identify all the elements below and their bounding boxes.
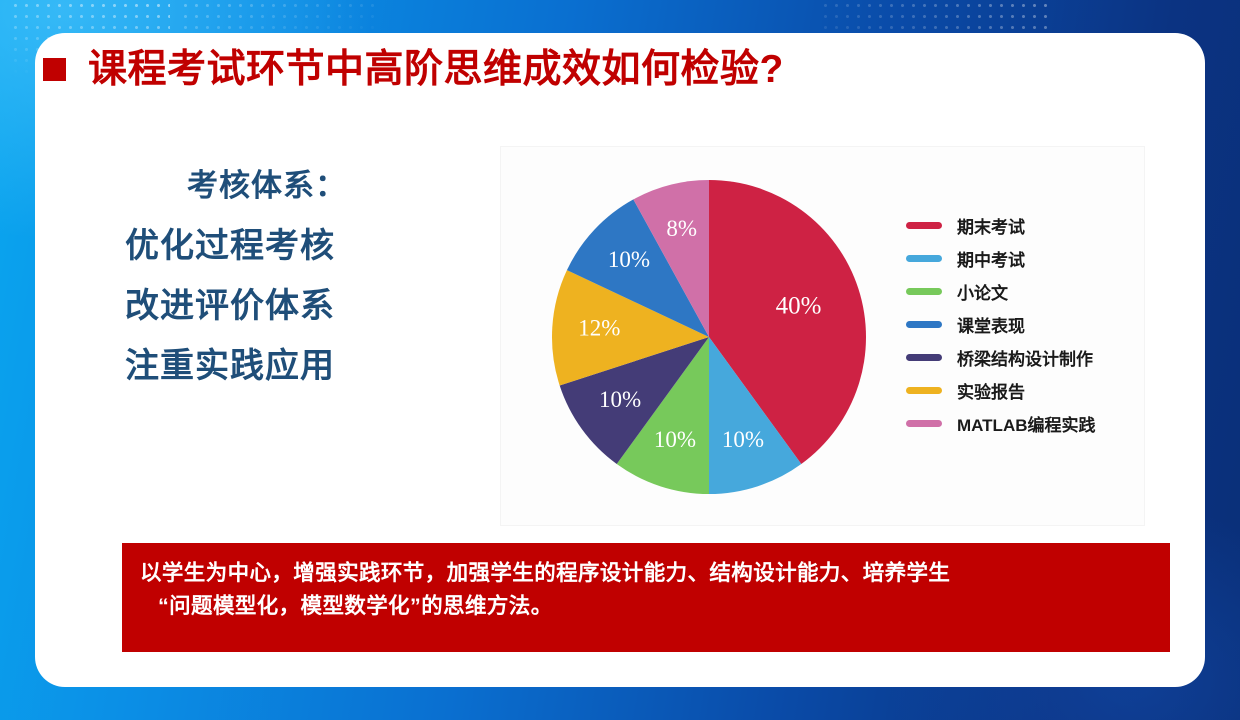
legend-item-label: MATLAB编程实践 bbox=[957, 411, 1096, 436]
pie-slice-value-label: 40% bbox=[776, 293, 822, 320]
legend-color-swatch-icon bbox=[906, 255, 942, 262]
legend-color-swatch-icon bbox=[906, 288, 942, 295]
legend-color-swatch-icon bbox=[906, 321, 942, 328]
slide-canvas: 课程考试环节中高阶思维成效如何检验? 考核体系： 优化过程考核 改进评价体系 注… bbox=[0, 0, 1240, 720]
legend-color-swatch-icon bbox=[906, 354, 942, 361]
legend-item-label: 课堂表现 bbox=[957, 312, 1025, 337]
legend-color-swatch-icon bbox=[906, 222, 942, 229]
legend-item-label: 桥梁结构设计制作 bbox=[957, 345, 1093, 370]
legend-item: 小论文 bbox=[906, 275, 1096, 308]
summary-banner: 以学生为中心，增强实践环节，加强学生的程序设计能力、结构设计能力、培养学生 “问… bbox=[122, 543, 1170, 652]
square-bullet-icon bbox=[43, 58, 66, 81]
legend-item: 期中考试 bbox=[906, 242, 1096, 275]
legend-item: 期末考试 bbox=[906, 209, 1096, 242]
assessment-pie-chart-panel: 40%10%10%10%12%10%8% 期末考试期中考试小论文课堂表现桥梁结构… bbox=[500, 146, 1145, 526]
summary-banner-line-1: 以学生为中心，增强实践环节，加强学生的程序设计能力、结构设计能力、培养学生 bbox=[132, 557, 1160, 590]
pie-slice-value-label: 10% bbox=[722, 427, 764, 452]
assessment-point-1: 优化过程考核 bbox=[125, 229, 445, 263]
legend-item: MATLAB编程实践 bbox=[906, 407, 1096, 440]
assessment-point-2: 改进评价体系 bbox=[125, 289, 445, 323]
assessment-system-text-block: 考核体系： 优化过程考核 改进评价体系 注重实践应用 bbox=[125, 170, 445, 383]
pie-slice-value-label: 10% bbox=[599, 387, 641, 412]
assessment-point-3: 注重实践应用 bbox=[125, 349, 445, 383]
legend-item: 课堂表现 bbox=[906, 308, 1096, 341]
legend-color-swatch-icon bbox=[906, 420, 942, 427]
legend-color-swatch-icon bbox=[906, 387, 942, 394]
legend-item-label: 期中考试 bbox=[957, 246, 1025, 271]
assessment-system-lead: 考核体系： bbox=[187, 170, 445, 201]
pie-slice-value-label: 10% bbox=[654, 427, 696, 452]
pie-slice-value-label: 12% bbox=[578, 315, 620, 340]
summary-banner-line-2: “问题模型化，模型数学化”的思维方法。 bbox=[132, 590, 1160, 623]
legend-item: 实验报告 bbox=[906, 374, 1096, 407]
pie-chart-svg: 40%10%10%10%12%10%8% bbox=[521, 159, 881, 515]
page-heading: 课程考试环节中高阶思维成效如何检验? bbox=[43, 50, 784, 89]
pie-slice-value-label: 8% bbox=[666, 216, 697, 241]
legend-item-label: 小论文 bbox=[957, 279, 1008, 304]
pie-slice-value-label: 10% bbox=[608, 247, 650, 272]
legend-item-label: 期末考试 bbox=[957, 213, 1025, 238]
page-title: 课程考试环节中高阶思维成效如何检验? bbox=[88, 50, 784, 89]
pie-chart: 40%10%10%10%12%10%8% bbox=[521, 159, 881, 515]
pie-chart-legend: 期末考试期中考试小论文课堂表现桥梁结构设计制作实验报告MATLAB编程实践 bbox=[906, 209, 1096, 440]
legend-item: 桥梁结构设计制作 bbox=[906, 341, 1096, 374]
legend-item-label: 实验报告 bbox=[957, 378, 1025, 403]
